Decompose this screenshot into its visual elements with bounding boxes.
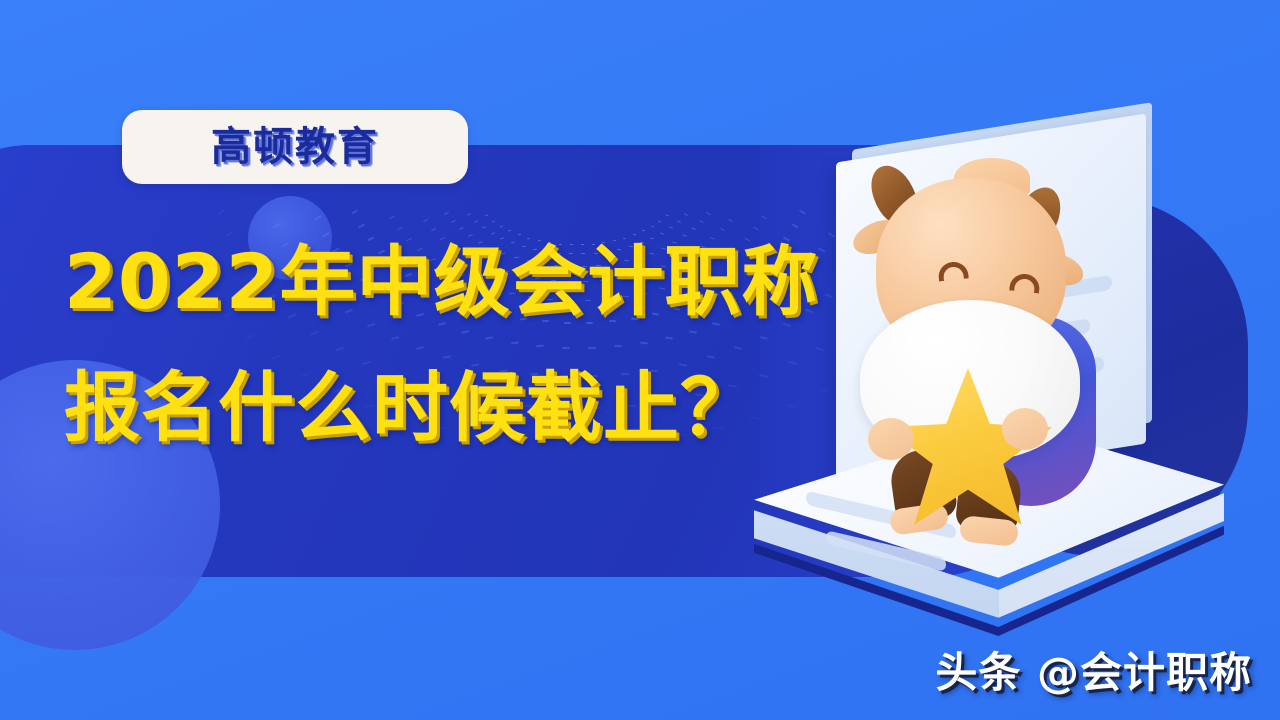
eye-right: [1009, 272, 1041, 293]
brand-badge-label: 高顿教育: [211, 127, 379, 167]
brand-badge: 高顿教育: [122, 110, 468, 184]
ox-mascot: [850, 150, 1150, 520]
poster-canvas: 高顿教育 2022年中级会计职称 报名什么时候截止？: [0, 0, 1280, 720]
paw-right: [1002, 408, 1048, 450]
illustration: [740, 120, 1280, 610]
paw-left: [868, 418, 914, 460]
toutiao-watermark: 头条 @会计职称: [935, 652, 1252, 694]
eye-left: [937, 260, 969, 281]
